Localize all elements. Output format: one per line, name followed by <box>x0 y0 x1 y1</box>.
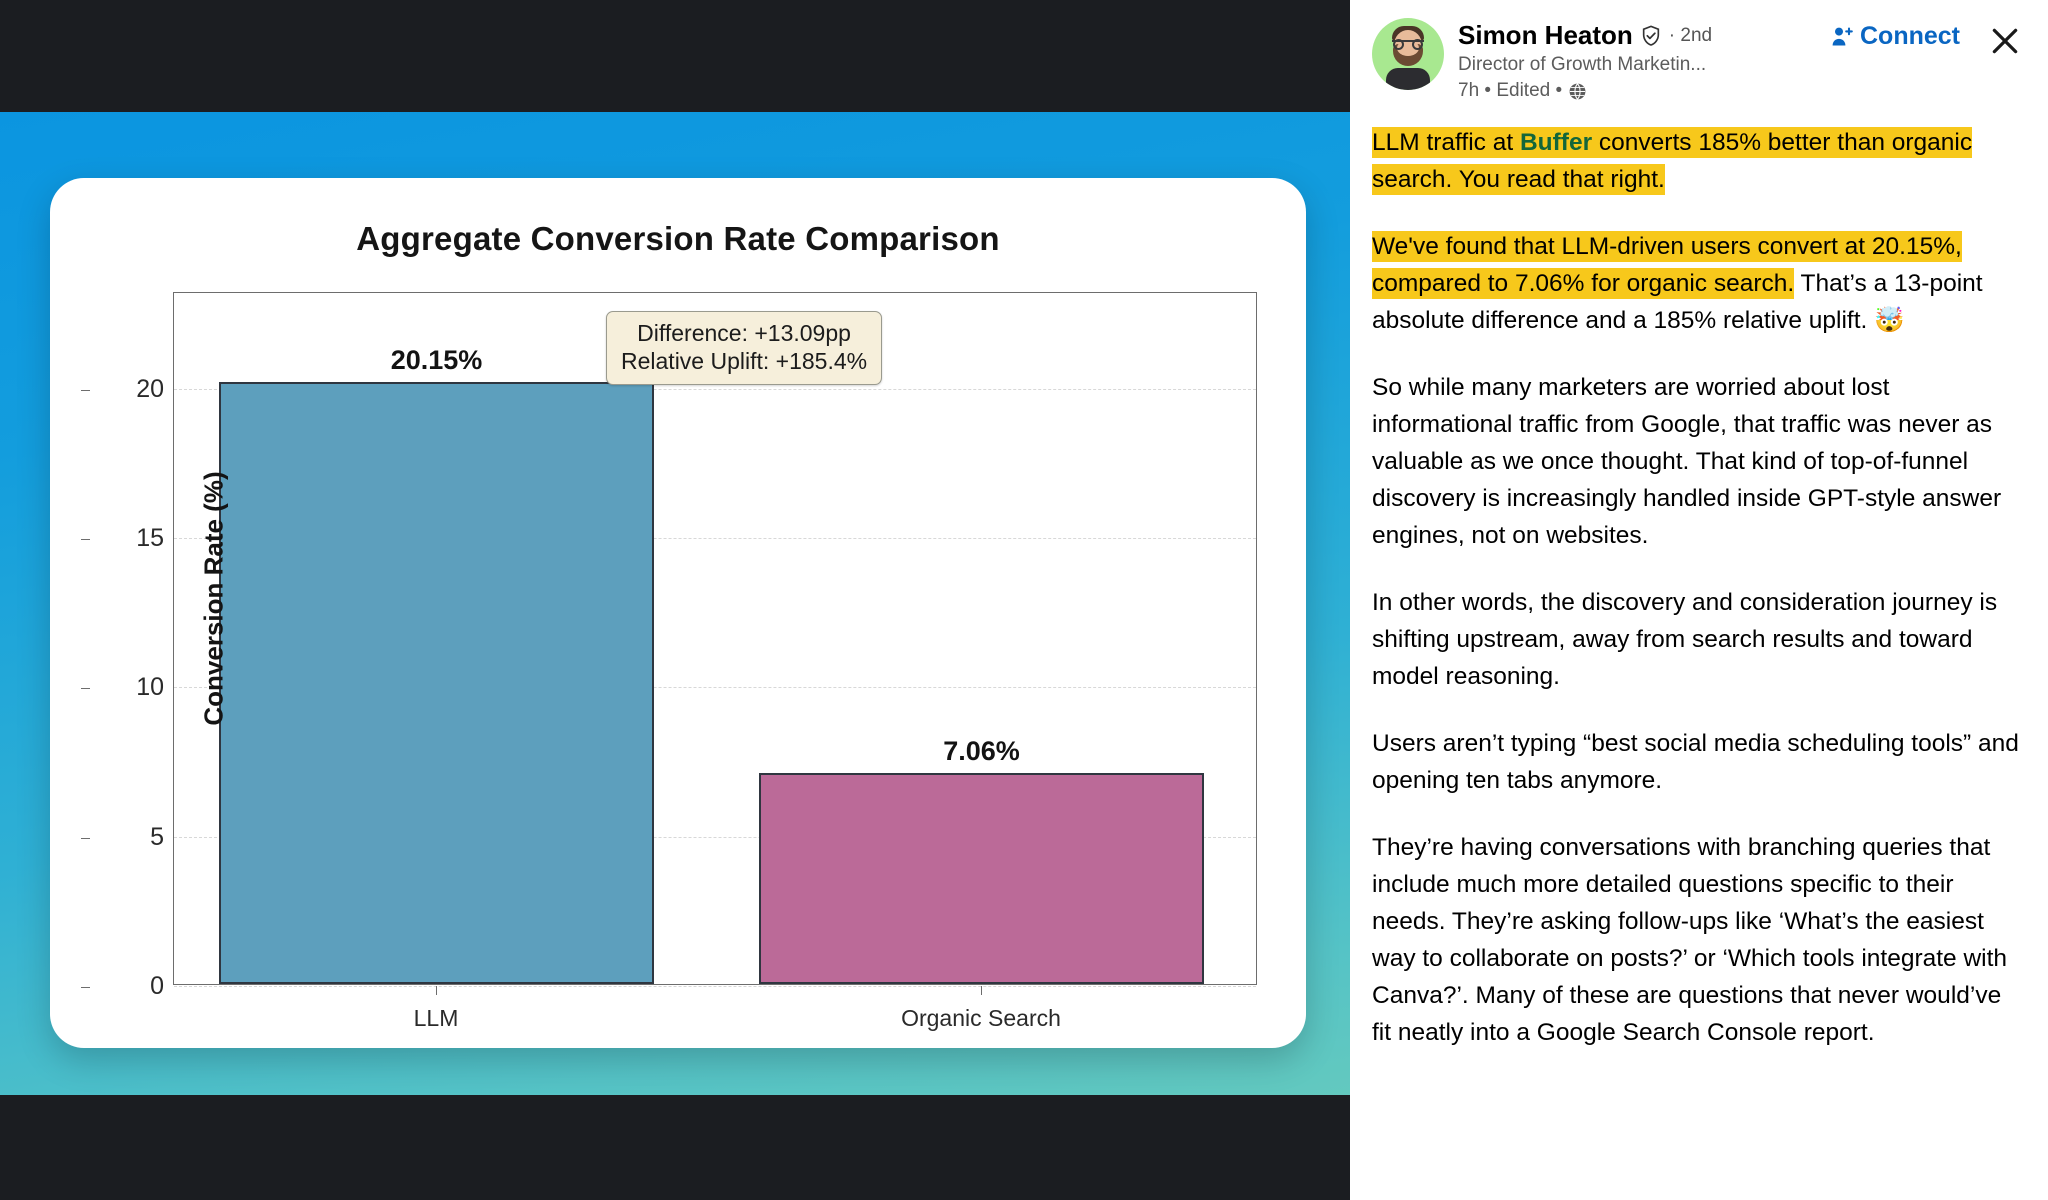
author-headline: Director of Growth Marketin... <box>1458 54 1758 76</box>
post-paragraph: In other words, the discovery and consid… <box>1372 584 2024 695</box>
gridline-0 <box>174 986 1256 987</box>
post-header: Simon Heaton · 2nd Director of Growth Ma… <box>1372 18 2024 102</box>
post-text-run: So while many marketers are worried abou… <box>1372 374 2001 549</box>
ytick-20: 20 <box>90 375 164 404</box>
difference-annotation: Difference: +13.09pp Relative Uplift: +1… <box>606 311 882 385</box>
chart-title: Aggregate Conversion Rate Comparison <box>50 220 1306 258</box>
post-text-run: Users aren’t typing “best social media s… <box>1372 730 2019 794</box>
post-text-run: In other words, the discovery and consid… <box>1372 589 1997 690</box>
y-axis-title: Conversion Rate (%) <box>199 459 230 739</box>
xtick-mark-organic-search <box>981 986 982 995</box>
post-text-run: They’re having conversations with branch… <box>1372 834 2007 1046</box>
bar-value-organic-search: 7.06% <box>759 736 1204 767</box>
person-add-icon <box>1830 25 1854 49</box>
ytick-5: 5 <box>90 823 164 852</box>
close-button[interactable] <box>1974 18 2024 63</box>
post-paragraph: LLM traffic at Buffer converts 185% bett… <box>1372 124 2024 198</box>
ytick-10: 10 <box>90 673 164 702</box>
bar-organic-search <box>759 773 1204 984</box>
author-identity: Simon Heaton · 2nd Director of Growth Ma… <box>1458 18 1816 102</box>
post-paragraph: We've found that LLM-driven users conver… <box>1372 228 2024 339</box>
post-body: LLM traffic at Buffer converts 185% bett… <box>1372 124 2024 1051</box>
plot-area: 20.15% 7.06% Difference: +13.09pp Relati… <box>173 292 1257 985</box>
ytick-0: 0 <box>90 972 164 1001</box>
screen: Aggregate Conversion Rate Comparison 20.… <box>0 0 2048 1200</box>
post-detail-pane: Simon Heaton · 2nd Director of Growth Ma… <box>1350 0 2048 1200</box>
annotation-uplift-line: Relative Uplift: +185.4% <box>621 347 867 375</box>
post-timestamp: 7h • Edited • <box>1458 80 1562 102</box>
close-icon <box>1988 24 2022 58</box>
connect-button[interactable]: Connect <box>1830 18 1960 51</box>
post-paragraph: They’re having conversations with branch… <box>1372 829 2024 1051</box>
connection-degree: · 2nd <box>1669 25 1712 47</box>
bar-value-llm: 20.15% <box>219 345 654 376</box>
author-name-row: Simon Heaton · 2nd <box>1458 20 1816 51</box>
xtick-mark-llm <box>436 986 437 995</box>
post-meta-row: 7h • Edited • <box>1458 80 1816 102</box>
gradient-backdrop: Aggregate Conversion Rate Comparison 20.… <box>0 112 1350 1095</box>
ytick-15: 15 <box>90 524 164 553</box>
post-paragraph: So while many marketers are worried abou… <box>1372 369 2024 554</box>
author-name[interactable]: Simon Heaton <box>1458 20 1633 51</box>
connect-button-label: Connect <box>1860 22 1960 51</box>
author-avatar[interactable] <box>1372 18 1444 90</box>
annotation-difference-line: Difference: +13.09pp <box>621 319 867 347</box>
chart-card: Aggregate Conversion Rate Comparison 20.… <box>50 178 1306 1048</box>
xtick-label-llm: LLM <box>286 1005 586 1032</box>
post-text-run: Buffer <box>1520 127 1592 158</box>
xtick-label-organic-search: Organic Search <box>831 1005 1131 1032</box>
globe-icon <box>1568 82 1587 101</box>
verified-badge-icon <box>1640 25 1662 47</box>
post-text-run: LLM traffic at <box>1372 127 1520 158</box>
bar-llm <box>219 382 654 984</box>
media-viewer-pane: Aggregate Conversion Rate Comparison 20.… <box>0 0 1350 1200</box>
post-paragraph: Users aren’t typing “best social media s… <box>1372 725 2024 799</box>
